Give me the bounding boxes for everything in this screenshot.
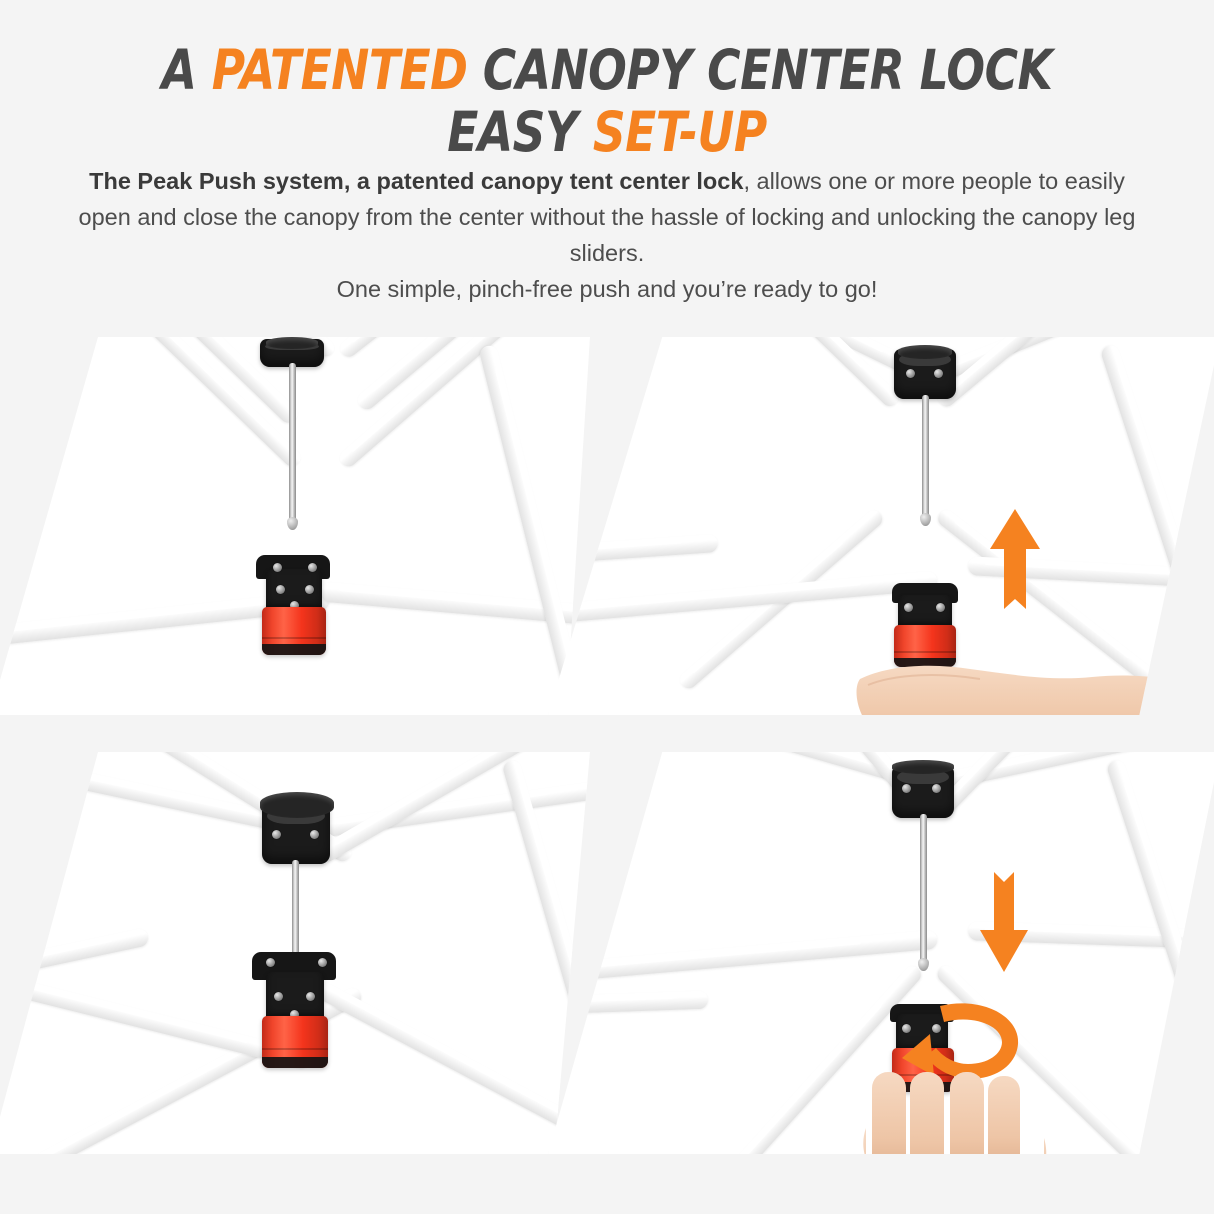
- panel-open-canopy-extended: [0, 337, 590, 715]
- lock-bolt: [904, 603, 913, 612]
- collar-ring: [894, 651, 956, 653]
- open-palm-hand: [854, 655, 1214, 715]
- red-push-collar: [262, 607, 326, 655]
- hub-cap: [892, 760, 954, 774]
- canopy-frame-scene-4: [548, 752, 1214, 1154]
- lock-bolt: [308, 563, 317, 572]
- lock-bolt: [318, 958, 327, 967]
- hub-bolt: [902, 784, 911, 793]
- frame-tube: [680, 337, 930, 383]
- center-rod: [289, 363, 296, 525]
- lock-bolt: [306, 992, 315, 1001]
- lock-bolt: [273, 563, 282, 572]
- lock-bolt: [266, 958, 275, 967]
- lock-bolt: [936, 603, 945, 612]
- lock-bolt: [274, 992, 283, 1001]
- hub-cap: [260, 792, 334, 818]
- hub-cap: [898, 345, 952, 359]
- panel-closed-canopy: [0, 752, 590, 1154]
- hub-bolt: [272, 830, 281, 839]
- arrow-up-icon: [988, 509, 1042, 617]
- center-rod: [922, 395, 929, 521]
- frame-tube: [1105, 758, 1214, 1154]
- panel-push-up: [548, 337, 1214, 715]
- frame-tube: [548, 571, 938, 627]
- hub-cap: [266, 337, 318, 349]
- hub-bolt: [932, 784, 941, 793]
- rod-tip: [287, 517, 298, 530]
- hub-bolt: [934, 369, 943, 378]
- fingers-grip-hand: [858, 1072, 1068, 1154]
- canopy-frame-scene-2: [548, 337, 1214, 715]
- center-rod: [920, 814, 927, 966]
- frame-tube: [548, 930, 938, 986]
- center-lock-body: [898, 595, 952, 629]
- rod-tip: [920, 513, 931, 526]
- center-rod: [292, 860, 299, 956]
- canopy-frame-scene-1: [0, 337, 590, 715]
- canopy-frame-scene-3: [0, 752, 590, 1154]
- hub-bolt: [310, 830, 319, 839]
- collar-ring: [262, 1048, 328, 1050]
- arrow-down-icon: [978, 860, 1030, 972]
- lock-bolt: [305, 585, 314, 594]
- frame-tube: [935, 337, 1176, 410]
- red-push-collar: [262, 1016, 328, 1068]
- collar-ring: [262, 637, 326, 639]
- hub-bolt: [906, 369, 915, 378]
- photo-panel-grid: [0, 0, 1214, 1214]
- frame-tube: [548, 991, 708, 1016]
- panel-pull-down-release: [548, 752, 1214, 1154]
- rod-tip: [918, 958, 929, 971]
- lock-bolt: [276, 585, 285, 594]
- infographic-page: A PATENTED CANOPY CENTER LOCK EASY SET-U…: [0, 0, 1214, 1214]
- frame-tube: [316, 981, 590, 1152]
- frame-tube: [0, 927, 150, 986]
